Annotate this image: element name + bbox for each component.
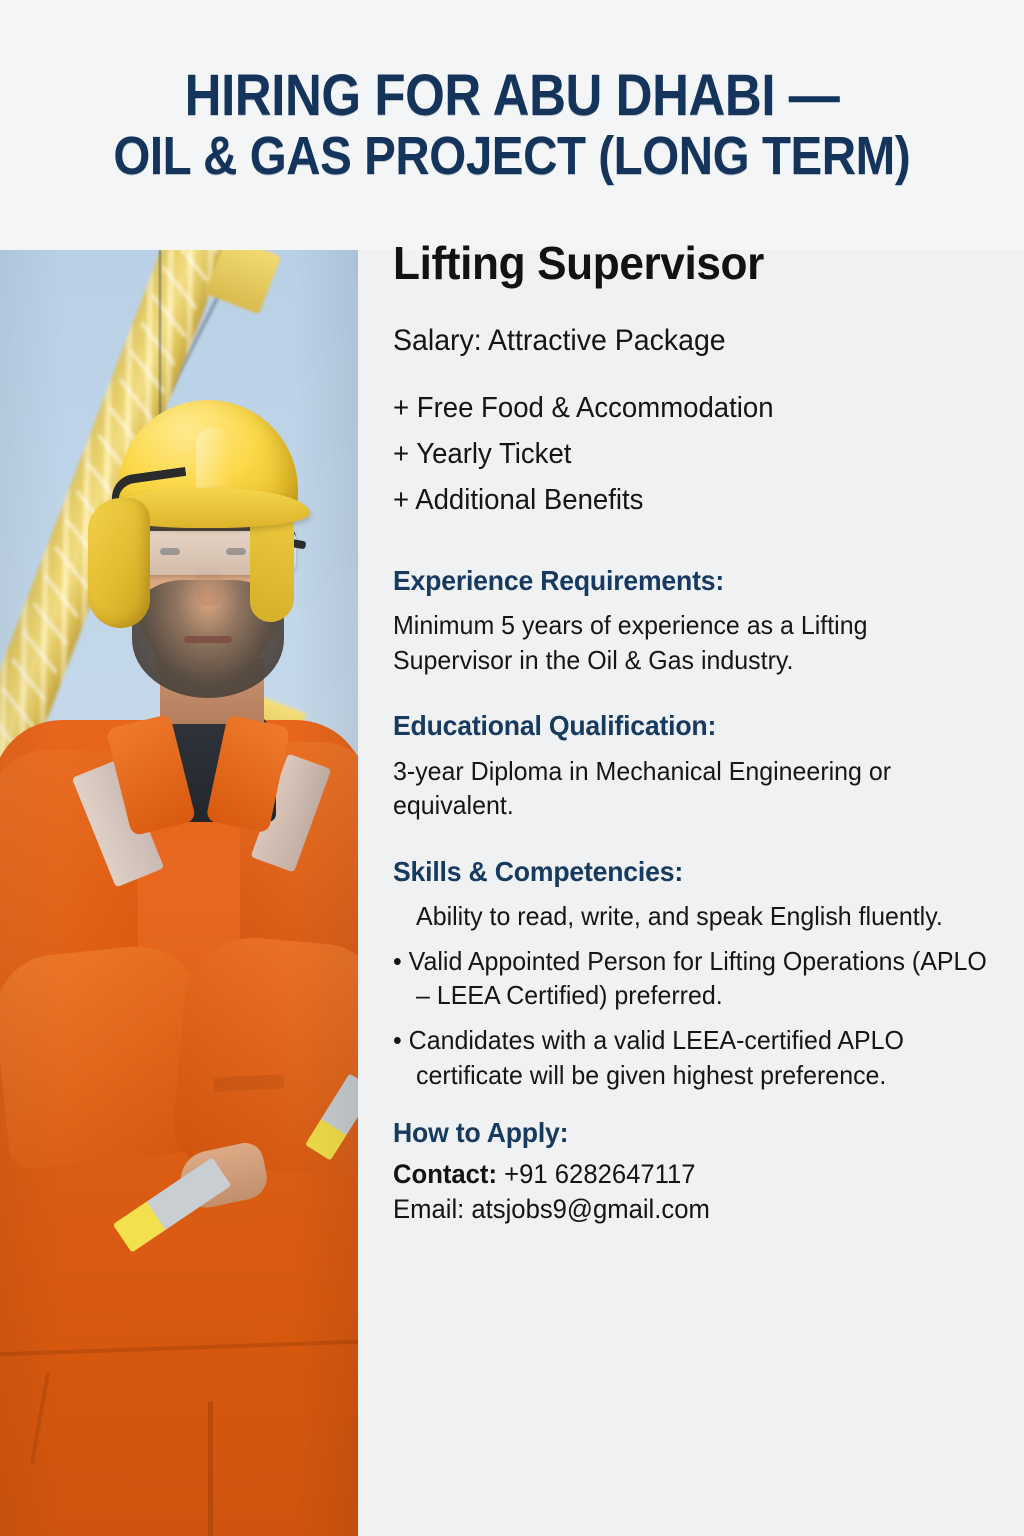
list-item: • Candidates with a valid LEEA-certified… [393, 1023, 990, 1092]
ear-defender-left [88, 498, 150, 628]
experience-heading: Experience Requirements: [393, 566, 984, 597]
perks-list: + Free Food & Accommodation + Yearly Tic… [393, 385, 1015, 524]
education-body: 3-year Diploma in Mechanical Engineering… [393, 754, 990, 823]
apply-heading: How to Apply: [393, 1118, 984, 1149]
list-item: • Valid Appointed Person for Lifting Ope… [393, 944, 990, 1013]
skills-heading: Skills & Competencies: [393, 857, 984, 888]
experience-body: Minimum 5 years of experience as a Lifti… [393, 608, 990, 677]
list-item: Ability to read, write, and speak Englis… [393, 899, 990, 934]
poster-title-line-2: OIL & GAS PROJECT (LONG TERM) [114, 127, 911, 185]
leg-seam [208, 1402, 213, 1536]
contact-phone-value[interactable]: +91 6282647117 [497, 1159, 696, 1189]
perk-item: + Free Food & Accommodation [393, 385, 984, 431]
worker-figure [0, 250, 358, 1536]
worker-photo [0, 250, 358, 1536]
contact-label: Contact: [393, 1159, 497, 1189]
perk-item: + Yearly Ticket [393, 431, 984, 477]
contact-phone-line: Contact: +91 6282647117 [393, 1157, 984, 1192]
skills-list: Ability to read, write, and speak Englis… [393, 899, 1015, 1092]
job-poster: HIRING FOR ABU DHABI — OIL & GAS PROJECT… [0, 0, 1024, 1536]
education-heading: Educational Qualification: [393, 711, 984, 742]
poster-title-line-1: HIRING FOR ABU DHABI — [185, 65, 840, 128]
poster-header: HIRING FOR ABU DHABI — OIL & GAS PROJECT… [0, 0, 1024, 250]
perk-item: + Additional Benefits [393, 477, 984, 523]
job-details-column: Lifting Supervisor Salary: Attractive Pa… [393, 240, 1015, 1226]
mouth [184, 636, 232, 643]
job-title: Lifting Supervisor [393, 240, 990, 286]
contact-email-line[interactable]: Email: atsjobs9@gmail.com [393, 1192, 984, 1227]
salary-line: Salary: Attractive Package [393, 324, 984, 359]
